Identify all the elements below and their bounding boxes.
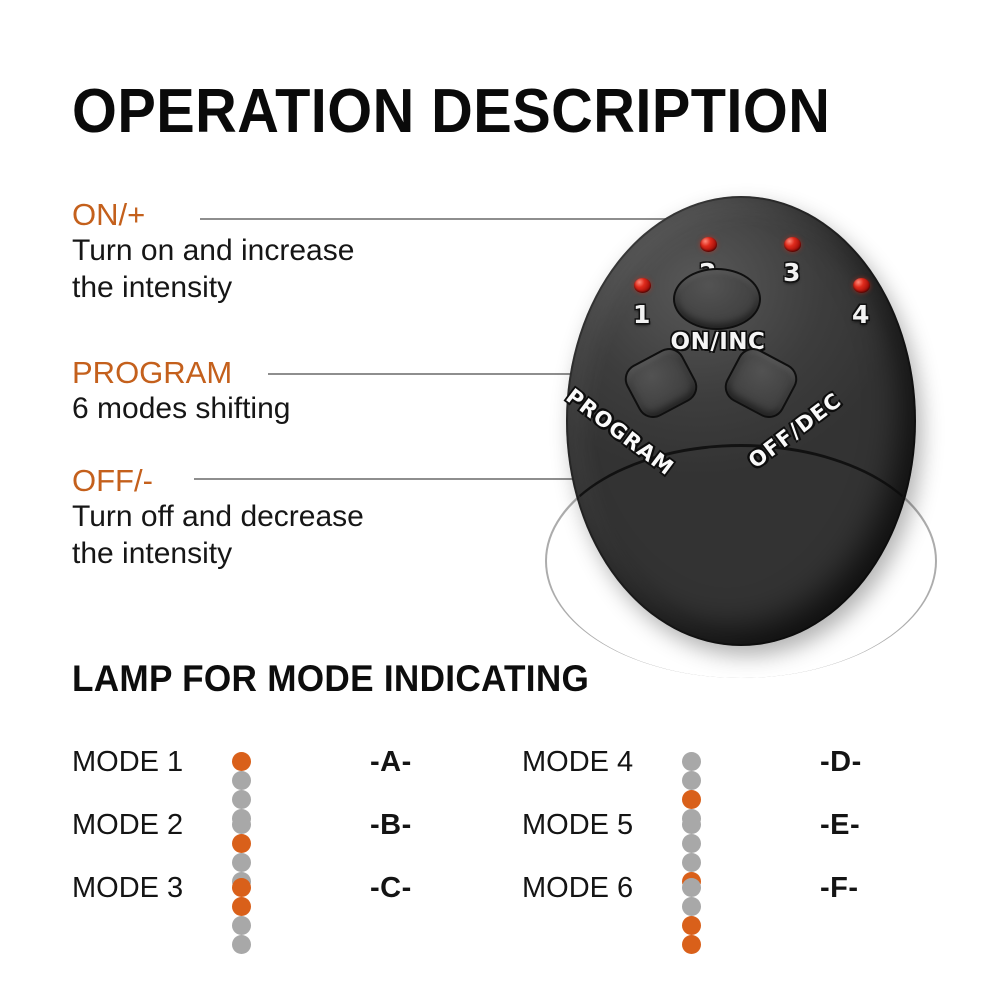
- mode-lamp-1-off: [682, 815, 701, 834]
- callout-off-minus: OFF/- Turn off and decrease the intensit…: [72, 464, 364, 573]
- mode-lamp-group: [232, 878, 269, 954]
- mode-lamp-4-on: [682, 935, 701, 954]
- callout-on-plus-description: Turn on and increase the intensity: [72, 233, 354, 306]
- callout-on-plus: ON/+ Turn on and increase the intensity: [72, 198, 354, 307]
- mode-lamp-2-off: [232, 771, 251, 790]
- mode-lamp-1-off: [682, 752, 701, 771]
- mode-lamp-2-off: [682, 771, 701, 790]
- mode-lamp-1-on: [232, 878, 251, 897]
- mode-lamp-3-off: [232, 790, 251, 809]
- mode-lamp-3-off: [232, 916, 251, 935]
- on-inc-button[interactable]: [673, 268, 761, 330]
- mode-row-label: MODE 6: [522, 871, 633, 905]
- device-seam-line: [545, 444, 937, 678]
- mode-lamp-3-off: [232, 853, 251, 872]
- mode-row-code: -B-: [370, 808, 412, 842]
- mode-row-label: MODE 5: [522, 808, 633, 842]
- led-indicator-4: [853, 278, 870, 293]
- callout-on-plus-line2: the intensity: [72, 270, 354, 307]
- mode-lamp-2-on: [232, 897, 251, 916]
- mode-row-label: MODE 2: [72, 808, 183, 842]
- mode-row-label: MODE 4: [522, 745, 633, 779]
- callout-program-description: 6 modes shifting: [72, 391, 290, 428]
- mode-row-code: -C-: [370, 871, 412, 905]
- callout-program-line1: 6 modes shifting: [72, 391, 290, 428]
- mode-lamp-group: [682, 878, 719, 954]
- mode-lamp-1-on: [232, 752, 251, 771]
- led-label-4: 4: [852, 300, 869, 329]
- section-title-lamp-mode: LAMP FOR MODE INDICATING: [72, 658, 589, 700]
- mode-row-code: -E-: [820, 808, 860, 842]
- callout-off-minus-line1: Turn off and decrease: [72, 499, 364, 536]
- mode-lamp-4-off: [232, 935, 251, 954]
- callout-program: PROGRAM 6 modes shifting: [72, 356, 290, 428]
- mode-row-code: -F-: [820, 871, 859, 905]
- led-indicator-2: [700, 237, 717, 252]
- infographic-page: OPERATION DESCRIPTION ON/+ Turn on and i…: [0, 0, 1000, 1000]
- callout-off-minus-description: Turn off and decrease the intensity: [72, 499, 364, 572]
- callout-on-plus-label: ON/+: [72, 198, 354, 231]
- callout-on-plus-line1: Turn on and increase: [72, 233, 354, 270]
- mode-lamp-2-on: [232, 834, 251, 853]
- callout-off-minus-label: OFF/-: [72, 464, 364, 497]
- mode-row-code: -D-: [820, 745, 862, 779]
- page-title: OPERATION DESCRIPTION: [72, 76, 830, 147]
- mode-lamp-3-off: [682, 853, 701, 872]
- mode-lamp-3-on: [682, 916, 701, 935]
- mode-lamp-2-off: [682, 834, 701, 853]
- mode-row-label: MODE 1: [72, 745, 183, 779]
- callout-off-minus-line2: the intensity: [72, 536, 364, 573]
- callout-program-label: PROGRAM: [72, 356, 290, 389]
- mode-lamp-1-off: [682, 878, 701, 897]
- mode-lamp-1-off: [232, 815, 251, 834]
- mode-lamp-3-on: [682, 790, 701, 809]
- mode-lamp-2-off: [682, 897, 701, 916]
- led-label-1: 1: [633, 300, 650, 329]
- led-indicator-3: [784, 237, 801, 252]
- led-indicator-1: [634, 278, 651, 293]
- mode-row-code: -A-: [370, 745, 412, 779]
- led-label-3: 3: [783, 258, 800, 287]
- remote-control-device: 1 2 3 4 ON/INC PROGRAM OFF/DEC: [566, 196, 916, 646]
- mode-row-label: MODE 3: [72, 871, 183, 905]
